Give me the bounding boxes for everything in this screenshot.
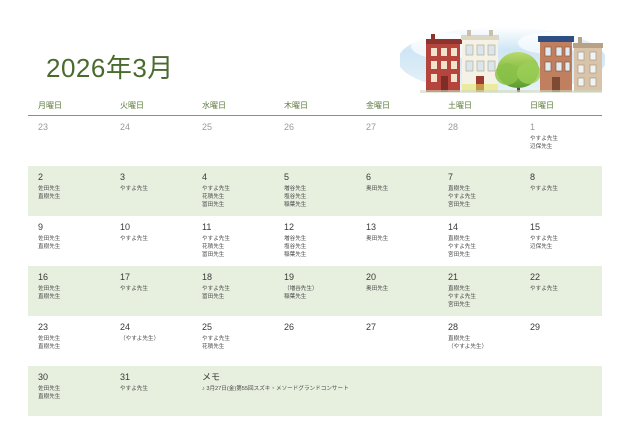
calendar-day-cell[interactable]: 25やすよ先生花積先生 [192,316,274,366]
day-event: 直樹先生 [38,393,106,401]
weekday-header-tue: 火曜日 [110,98,192,116]
day-event: やすよ先生 [530,235,598,243]
calendar-day-cell[interactable]: 6奥田先生 [356,166,438,216]
calendar-day-cell[interactable]: 26 [274,116,356,166]
calendar-day-cell[interactable]: 24 [110,116,192,166]
day-number: 26 [284,321,352,333]
day-number: 9 [38,221,106,233]
calendar-day-cell[interactable]: 1やすよ先生辺保先生 [520,116,602,166]
day-event: やすよ先生 [120,385,188,393]
townhouses-banner-image [400,26,605,94]
day-number: 31 [120,371,188,383]
calendar-day-cell[interactable]: 20奥田先生 [356,266,438,316]
calendar-page: 2026年3月 [0,0,630,445]
calendar-day-cell[interactable]: 22やすよ先生 [520,266,602,316]
calendar-week-row: 23佐田先生直樹先生24（やすよ先生）25やすよ先生花積先生262728直樹先生… [28,316,602,366]
weekday-header-mon: 月曜日 [28,98,110,116]
calendar-day-cell[interactable]: 7直樹先生やすよ先生宮田先生 [438,166,520,216]
calendar-day-cell[interactable]: 27 [356,116,438,166]
weekday-header-row: 月曜日 火曜日 水曜日 木曜日 金曜日 土曜日 日曜日 [28,98,602,116]
day-event: 宮田先生 [448,201,516,209]
day-event: 直樹先生 [448,335,516,343]
weekday-header-sun: 日曜日 [520,98,602,116]
day-event: やすよ先生 [530,185,598,193]
day-number: 6 [366,171,434,183]
day-number: 21 [448,271,516,283]
day-event: やすよ先生 [120,285,188,293]
day-event: 直樹先生 [38,343,106,351]
day-event: 奥田先生 [366,285,434,293]
day-number: 22 [530,271,598,283]
day-event: 増谷先生 [284,235,352,243]
day-event: 稲葉先生 [284,201,352,209]
day-number: 18 [202,271,270,283]
day-number: 28 [448,321,516,333]
day-number: 4 [202,171,270,183]
day-number: 5 [284,171,352,183]
day-event: やすよ先生 [120,185,188,193]
calendar-day-cell[interactable]: 25 [192,116,274,166]
calendar-day-cell[interactable]: 17やすよ先生 [110,266,192,316]
day-event: 塩谷先生 [284,243,352,251]
calendar-day-cell[interactable]: 19（増谷先生）稲葉先生 [274,266,356,316]
calendar-day-cell[interactable]: 16佐田先生直樹先生 [28,266,110,316]
day-number: 19 [284,271,352,283]
day-number: 13 [366,221,434,233]
day-event: 直樹先生 [38,243,106,251]
day-event: やすよ先生 [530,135,598,143]
day-number: 25 [202,321,270,333]
day-event: 稲葉先生 [284,293,352,301]
calendar-body: 2324252627281やすよ先生辺保先生2佐田先生直樹先生3やすよ先生4やす… [28,116,602,416]
calendar-week-row: 16佐田先生直樹先生17やすよ先生18やすよ先生冨田先生19（増谷先生）稲葉先生… [28,266,602,316]
day-event: 奥田先生 [366,235,434,243]
weekday-header-wed: 水曜日 [192,98,274,116]
memo-text: ♪ 3月27日(金)第55回スズキ・メソードグランドコンサート [202,385,270,393]
page-header: 2026年3月 [0,0,630,96]
calendar-day-cell[interactable]: 10やすよ先生 [110,216,192,266]
day-number: 12 [284,221,352,233]
calendar-day-cell[interactable]: 3やすよ先生 [110,166,192,216]
day-number: 24 [120,121,188,133]
day-number: 27 [366,121,434,133]
day-number: 20 [366,271,434,283]
calendar-day-cell[interactable]: 28 [438,116,520,166]
day-number: 11 [202,221,270,233]
calendar-day-cell[interactable]: 14直樹先生やすよ先生宮田先生 [438,216,520,266]
calendar-day-cell[interactable]: 4やすよ先生花積先生冨田先生 [192,166,274,216]
calendar-week-row: 9佐田先生直樹先生10やすよ先生11やすよ先生花積先生冨田先生12増谷先生塩谷先… [28,216,602,266]
day-event: やすよ先生 [530,285,598,293]
day-event: 直樹先生 [38,293,106,301]
day-event: やすよ先生 [202,235,270,243]
day-number: 7 [448,171,516,183]
day-number: 8 [530,171,598,183]
calendar-day-cell[interactable] [438,366,520,416]
day-event: 花積先生 [202,193,270,201]
calendar-day-cell[interactable]: 9佐田先生直樹先生 [28,216,110,266]
day-event: 辺保先生 [530,243,598,251]
day-event: 直樹先生 [448,285,516,293]
day-event: 花積先生 [202,243,270,251]
calendar-day-cell[interactable]: 30佐田先生直樹先生 [28,366,110,416]
calendar-day-cell[interactable]: 15やすよ先生辺保先生 [520,216,602,266]
calendar-grid: 月曜日 火曜日 水曜日 木曜日 金曜日 土曜日 日曜日 232425262728… [28,98,602,416]
calendar-day-cell[interactable]: 23 [28,116,110,166]
calendar-day-cell[interactable]: 5増谷先生塩谷先生稲葉先生 [274,166,356,216]
day-event: 佐田先生 [38,385,106,393]
calendar-week-row: 2佐田先生直樹先生3やすよ先生4やすよ先生花積先生冨田先生5増谷先生塩谷先生稲葉… [28,166,602,216]
day-event: 辺保先生 [530,143,598,151]
day-event: やすよ先生 [448,243,516,251]
calendar-week-row: 30佐田先生直樹先生31やすよ先生メモ♪ 3月27日(金)第55回スズキ・メソー… [28,366,602,416]
day-event: 佐田先生 [38,185,106,193]
day-number: 28 [448,121,516,133]
day-event: 増谷先生 [284,185,352,193]
day-number: 26 [284,121,352,133]
day-number: 1 [530,121,598,133]
calendar-day-cell[interactable]: 31やすよ先生 [110,366,192,416]
calendar-day-cell[interactable]: 27 [356,316,438,366]
weekday-header-thu: 木曜日 [274,98,356,116]
day-event: （増谷先生） [284,285,352,293]
day-event: やすよ先生 [202,185,270,193]
day-event: 冨田先生 [202,201,270,209]
day-number: 17 [120,271,188,283]
day-event: 奥田先生 [366,185,434,193]
day-event: 冨田先生 [202,293,270,301]
day-event: やすよ先生 [448,293,516,301]
memo-cell[interactable]: メモ♪ 3月27日(金)第55回スズキ・メソードグランドコンサート [192,366,274,416]
day-number: 29 [530,321,598,333]
calendar-day-cell[interactable]: 2佐田先生直樹先生 [28,166,110,216]
calendar-day-cell[interactable]: 11やすよ先生花積先生冨田先生 [192,216,274,266]
day-event: 塩谷先生 [284,193,352,201]
calendar-day-cell[interactable]: 21直樹先生やすよ先生宮田先生 [438,266,520,316]
weekday-header-sat: 土曜日 [438,98,520,116]
day-event: やすよ先生 [448,193,516,201]
day-event: 冨田先生 [202,251,270,259]
day-event: やすよ先生 [202,285,270,293]
day-event: （やすよ先生） [120,335,188,343]
day-number: 25 [202,121,270,133]
weekday-header-fri: 金曜日 [356,98,438,116]
day-event: 佐田先生 [38,285,106,293]
day-number: 30 [38,371,106,383]
calendar-day-cell[interactable] [356,366,438,416]
day-number: 3 [120,171,188,183]
day-event: 佐田先生 [38,335,106,343]
calendar-day-cell[interactable]: 28直樹先生（やすよ先生） [438,316,520,366]
day-event: 直樹先生 [448,235,516,243]
day-number: 23 [38,121,106,133]
calendar-day-cell[interactable]: 8やすよ先生 [520,166,602,216]
calendar-day-cell[interactable]: 24（やすよ先生） [110,316,192,366]
calendar-day-cell[interactable]: 12増谷先生塩谷先生稲葉先生 [274,216,356,266]
day-number: 24 [120,321,188,333]
day-number: 10 [120,221,188,233]
day-event: やすよ先生 [120,235,188,243]
day-number: 16 [38,271,106,283]
calendar-day-cell[interactable] [520,366,602,416]
calendar-day-cell[interactable]: 29 [520,316,602,366]
day-event: 直樹先生 [448,185,516,193]
day-event: 宮田先生 [448,251,516,259]
page-title: 2026年3月 [46,48,174,85]
day-number: 2 [38,171,106,183]
day-event: 直樹先生 [38,193,106,201]
calendar-day-cell[interactable]: 26 [274,316,356,366]
day-event: やすよ先生 [202,335,270,343]
day-event: 宮田先生 [448,301,516,309]
day-event: 佐田先生 [38,235,106,243]
day-number: 14 [448,221,516,233]
memo-label: メモ [202,371,270,383]
day-number: 23 [38,321,106,333]
day-event: 花積先生 [202,343,270,351]
day-event: （やすよ先生） [448,343,516,351]
day-number: 15 [530,221,598,233]
calendar-week-row: 2324252627281やすよ先生辺保先生 [28,116,602,166]
calendar-day-cell[interactable]: 23佐田先生直樹先生 [28,316,110,366]
calendar-day-cell[interactable]: 18やすよ先生冨田先生 [192,266,274,316]
calendar-day-cell[interactable]: 13奥田先生 [356,216,438,266]
day-number: 27 [366,321,434,333]
day-event: 稲葉先生 [284,251,352,259]
